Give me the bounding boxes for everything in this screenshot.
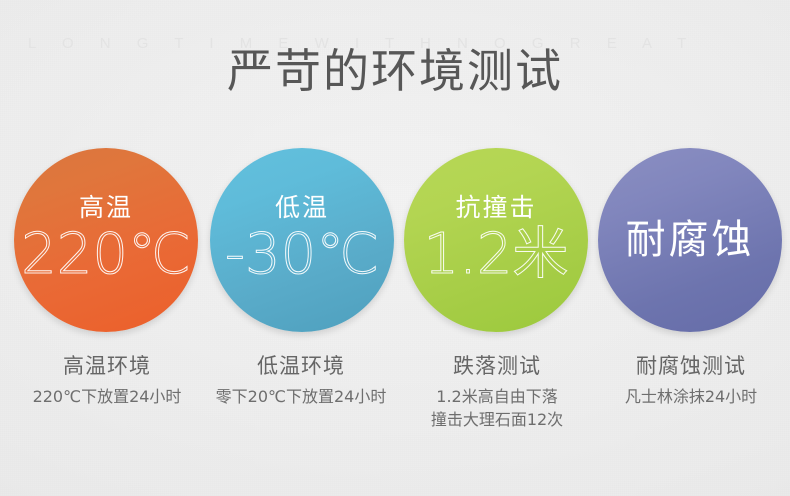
- environment-test-infographic: L O N G T I M E W I T H N O G R E A T 严苛…: [0, 0, 790, 496]
- caption-line: 220℃下放置24小时: [2, 385, 212, 408]
- circle-badge: 高温 220℃: [14, 148, 198, 332]
- caption-line: 凡士林涂抹24小时: [586, 385, 790, 408]
- circle-value: 1.2米: [423, 224, 568, 286]
- circle-label: 高温: [79, 194, 133, 222]
- circle-label: 低温: [275, 194, 329, 222]
- caption-low-temperature: 低温环境 零下20℃下放置24小时: [196, 352, 406, 408]
- caption-corrosion-resistance: 耐腐蚀测试 凡士林涂抹24小时: [586, 352, 790, 408]
- caption-line: 零下20℃下放置24小时: [196, 385, 406, 408]
- caption-title: 耐腐蚀测试: [586, 352, 790, 380]
- test-circle-low-temperature: 低温 -30℃: [210, 148, 396, 332]
- circle-label: 耐腐蚀: [626, 217, 755, 263]
- circle-label: 抗撞击: [455, 194, 536, 222]
- page-title: 严苛的环境测试: [0, 44, 790, 98]
- caption-impact-resistance: 跌落测试 1.2米高自由下落 撞击大理石面12次: [392, 352, 602, 431]
- circle-badge: 低温 -30℃: [210, 148, 394, 332]
- test-circle-group: 高温 220℃ 低温 -30℃ 抗撞击 1.2米 耐腐蚀: [0, 148, 790, 332]
- caption-high-temperature: 高温环境 220℃下放置24小时: [2, 352, 212, 408]
- circle-value: -30℃: [225, 224, 379, 286]
- caption-title: 高温环境: [2, 352, 212, 380]
- test-circle-impact-resistance: 抗撞击 1.2米: [404, 148, 590, 332]
- circle-badge: 抗撞击 1.2米: [404, 148, 588, 332]
- circle-value: 220℃: [21, 224, 191, 286]
- caption-title: 跌落测试: [392, 352, 602, 380]
- test-circle-corrosion-resistance: 耐腐蚀: [598, 148, 784, 332]
- circle-badge: 耐腐蚀: [598, 148, 782, 332]
- test-circle-high-temperature: 高温 220℃: [14, 148, 200, 332]
- caption-title: 低温环境: [196, 352, 406, 380]
- caption-line: 1.2米高自由下落: [392, 385, 602, 408]
- caption-line: 撞击大理石面12次: [392, 408, 602, 431]
